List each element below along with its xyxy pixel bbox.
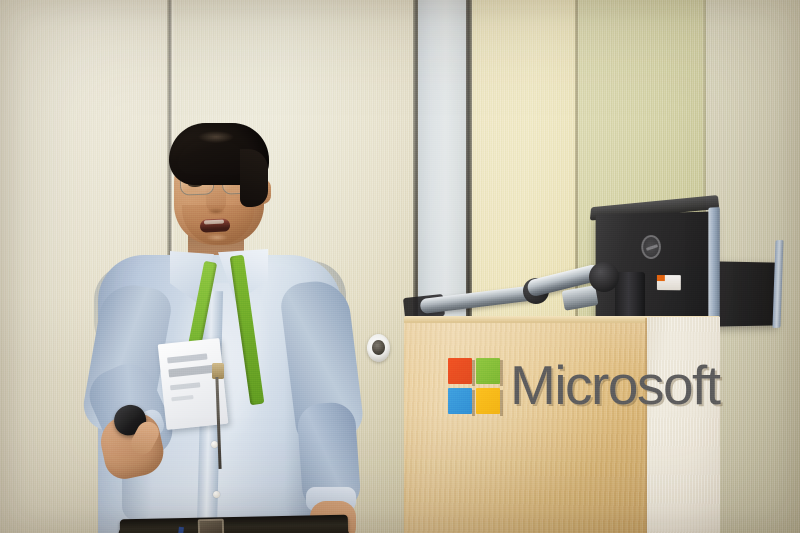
yellow-square	[476, 388, 500, 414]
green-square	[476, 358, 500, 384]
presenter-figure	[70, 115, 360, 533]
hair-highlight	[194, 129, 238, 145]
badge-text-line	[167, 353, 207, 363]
head	[170, 123, 268, 247]
wall-door-stop	[367, 334, 390, 362]
blue-square	[448, 388, 472, 414]
blue-badge-cord	[177, 527, 184, 533]
red-square	[448, 358, 472, 384]
lectern-podium	[404, 316, 720, 533]
badge-name-line	[168, 365, 215, 378]
dell-oval-logo	[641, 235, 661, 259]
hair-side	[240, 149, 268, 207]
microsoft-four-square-logo	[448, 358, 502, 414]
second-monitor-rear	[713, 261, 777, 326]
asset-tag-sticker	[657, 275, 681, 290]
chin-highlight	[204, 233, 230, 242]
monitor-mount-neck	[615, 272, 645, 318]
presentation-photo: Microsoft	[0, 0, 800, 533]
badge-text-line	[170, 382, 200, 390]
nose-shadow	[204, 207, 228, 216]
podium-side-grain	[647, 317, 720, 533]
podium-side-panel	[647, 317, 720, 533]
belt-buckle	[198, 519, 225, 533]
microsoft-wordmark: Microsoft	[510, 358, 720, 413]
shirt-button	[213, 491, 220, 498]
badge-text-line	[171, 395, 193, 401]
monitor-arm-joint-two	[589, 262, 619, 292]
